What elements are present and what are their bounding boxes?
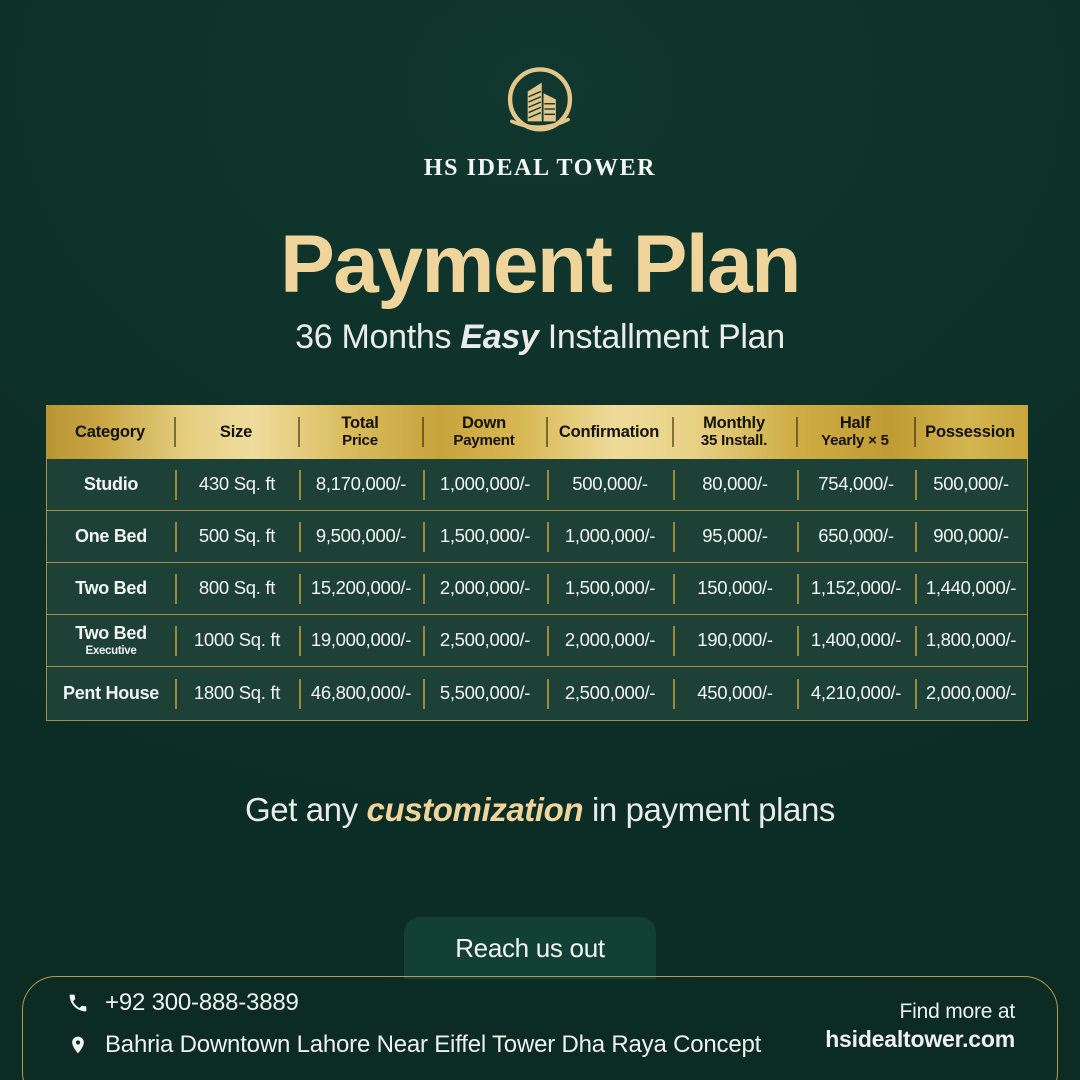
table-body: Studio 430 Sq. ft 8,170,000/- 1,000,000/… [46, 459, 1028, 721]
cell-category: Two Bed [47, 579, 175, 599]
cell-category: Two Bed Executive [47, 624, 175, 657]
column-header-category: Category [46, 423, 174, 441]
column-header-confirmation: Confirmation [546, 423, 672, 441]
building-in-circle-icon [496, 58, 584, 146]
cell-half-yearly: 650,000/- [797, 526, 915, 546]
brand-logo-block: HS IDEAL TOWER [0, 58, 1080, 182]
tagline-pre: Get any [245, 791, 367, 828]
cell-possession: 1,800,000/- [915, 630, 1027, 650]
brand-name: HS IDEAL TOWER [424, 155, 656, 182]
cell-monthly: 150,000/- [673, 578, 797, 598]
table-row: Two Bed Executive 1000 Sq. ft 19,000,000… [47, 615, 1027, 667]
cell-size: 1000 Sq. ft [175, 630, 299, 650]
cell-confirmation: 500,000/- [547, 474, 673, 494]
cell-category: One Bed [47, 527, 175, 547]
cell-possession: 2,000,000/- [915, 683, 1027, 703]
column-header-down-payment: Down Payment [422, 414, 546, 449]
page-subtitle: 36 Months Easy Installment Plan [0, 318, 1080, 357]
subtitle-pre: 36 Months [295, 318, 460, 356]
cell-size: 800 Sq. ft [175, 578, 299, 598]
tagline-post: in payment plans [583, 791, 835, 828]
contact-phone-row[interactable]: +92 300-888-3889 [67, 989, 761, 1017]
cell-size: 500 Sq. ft [175, 526, 299, 546]
cell-half-yearly: 1,400,000/- [797, 630, 915, 650]
cell-total-price: 46,800,000/- [299, 683, 423, 703]
website-link[interactable]: hsidealtower.com [825, 1025, 1015, 1053]
column-header-total-price: Total Price [298, 414, 422, 449]
cell-down-payment: 2,000,000/- [423, 578, 547, 598]
contact-phone: +92 300-888-3889 [105, 989, 299, 1017]
cell-total-price: 9,500,000/- [299, 526, 423, 546]
tagline-emphasis: customization [367, 791, 584, 828]
cell-category: Studio [47, 475, 175, 495]
table-row: Pent House 1800 Sq. ft 46,800,000/- 5,50… [47, 667, 1027, 720]
cell-category: Pent House [47, 684, 175, 704]
cell-monthly: 190,000/- [673, 630, 797, 650]
phone-icon [67, 993, 89, 1013]
column-header-half-yearly: Half Yearly × 5 [796, 414, 914, 449]
table-row: Studio 430 Sq. ft 8,170,000/- 1,000,000/… [47, 459, 1027, 511]
customization-tagline: Get any customization in payment plans [0, 791, 1080, 829]
payment-plan-poster: HS IDEAL TOWER Payment Plan 36 Months Ea… [0, 0, 1080, 1080]
cell-confirmation: 1,500,000/- [547, 578, 673, 598]
cell-half-yearly: 1,152,000/- [797, 578, 915, 598]
cell-possession: 1,440,000/- [915, 578, 1027, 598]
cell-total-price: 8,170,000/- [299, 474, 423, 494]
cell-monthly: 80,000/- [673, 474, 797, 494]
find-more-label: Find more at [825, 999, 1015, 1025]
cell-size: 1800 Sq. ft [175, 683, 299, 703]
cell-confirmation: 2,500,000/- [547, 683, 673, 703]
location-pin-icon [67, 1035, 89, 1055]
contact-lines: +92 300-888-3889 Bahria Downtown Lahore … [67, 989, 761, 1059]
cell-down-payment: 1,500,000/- [423, 526, 547, 546]
reach-us-out-tab[interactable]: Reach us out [404, 917, 656, 979]
cell-total-price: 15,200,000/- [299, 578, 423, 598]
payment-plan-table: Category Size Total Price Down Payment C… [46, 405, 1028, 721]
cell-down-payment: 1,000,000/- [423, 474, 547, 494]
cell-monthly: 450,000/- [673, 683, 797, 703]
column-header-monthly: Monthly 35 Install. [672, 414, 796, 449]
cell-total-price: 19,000,000/- [299, 630, 423, 650]
cell-possession: 500,000/- [915, 474, 1027, 494]
cell-half-yearly: 4,210,000/- [797, 683, 915, 703]
cell-down-payment: 2,500,000/- [423, 630, 547, 650]
cell-monthly: 95,000/- [673, 526, 797, 546]
contact-card: +92 300-888-3889 Bahria Downtown Lahore … [22, 976, 1058, 1080]
find-more-block: Find more at hsidealtower.com [825, 999, 1015, 1053]
cell-possession: 900,000/- [915, 526, 1027, 546]
subtitle-emphasis: Easy [460, 318, 538, 356]
cell-size: 430 Sq. ft [175, 474, 299, 494]
contact-address: Bahria Downtown Lahore Near Eiffel Tower… [105, 1031, 761, 1059]
cell-confirmation: 2,000,000/- [547, 630, 673, 650]
cell-category-sub: Executive [47, 645, 175, 658]
table-row: Two Bed 800 Sq. ft 15,200,000/- 2,000,00… [47, 563, 1027, 615]
contact-address-row[interactable]: Bahria Downtown Lahore Near Eiffel Tower… [67, 1031, 761, 1059]
column-header-possession: Possession [914, 423, 1026, 441]
cell-half-yearly: 754,000/- [797, 474, 915, 494]
table-row: One Bed 500 Sq. ft 9,500,000/- 1,500,000… [47, 511, 1027, 563]
table-header-row: Category Size Total Price Down Payment C… [46, 405, 1028, 459]
cell-down-payment: 5,500,000/- [423, 683, 547, 703]
column-header-size: Size [174, 423, 298, 441]
page-title: Payment Plan [0, 224, 1080, 306]
subtitle-post: Installment Plan [539, 318, 785, 356]
cell-confirmation: 1,000,000/- [547, 526, 673, 546]
